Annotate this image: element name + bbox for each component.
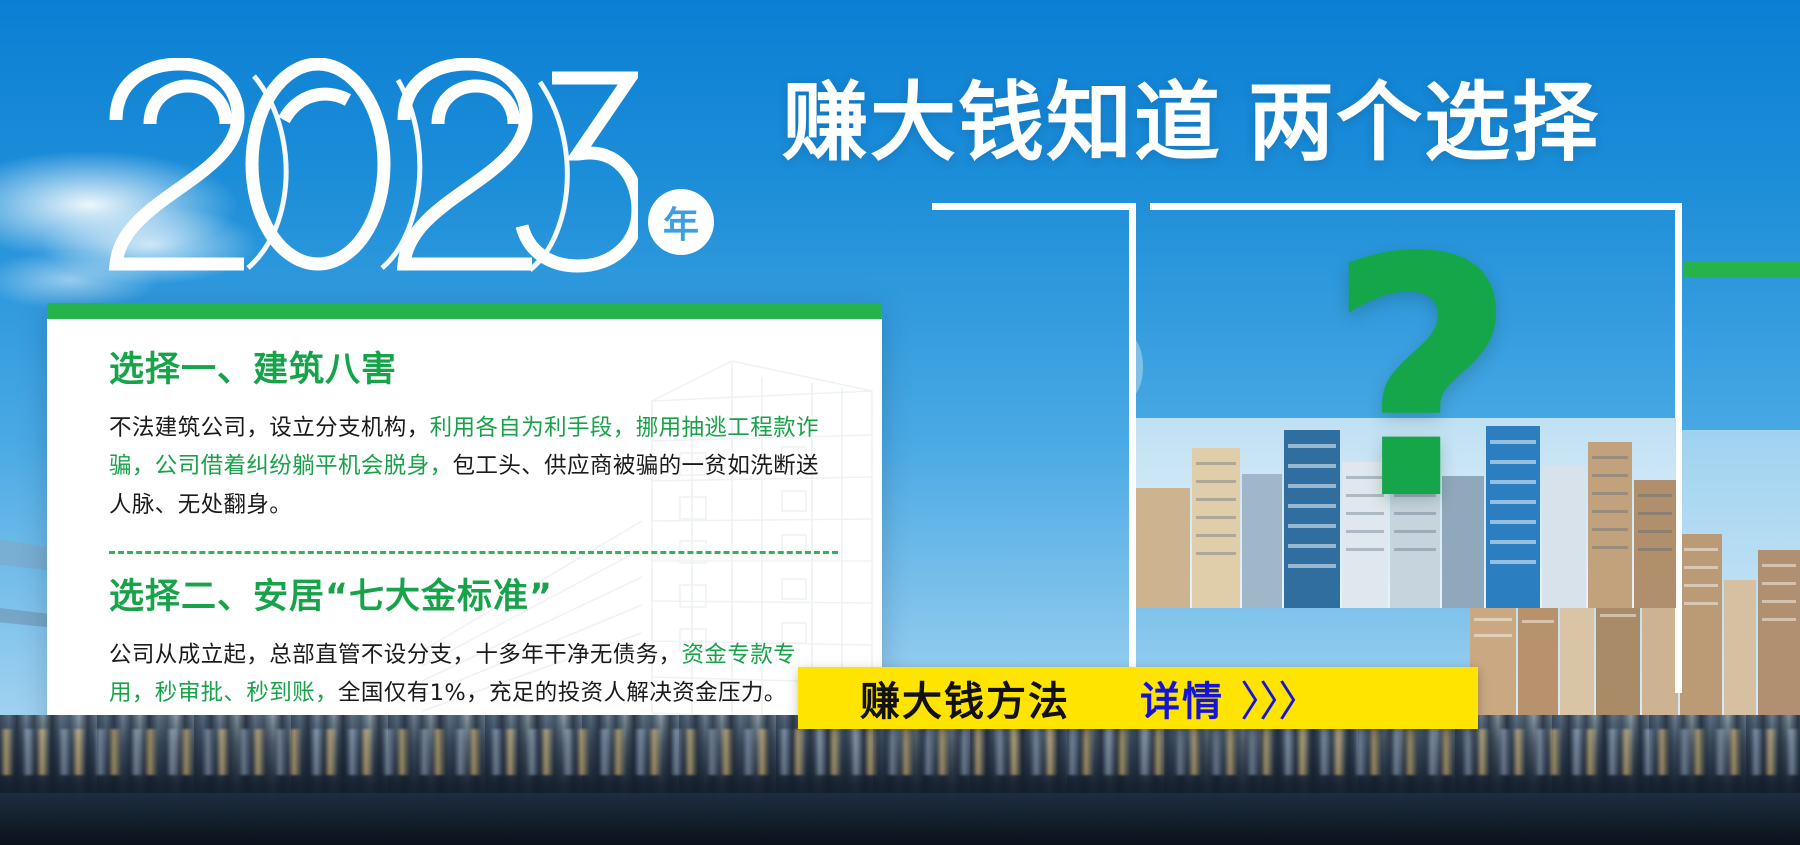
headline-rule-left [932,203,1129,210]
headline-part-1: 赚大钱知道 [782,73,1222,173]
section-2-body-part-3: 全国仅有1%，充足的投资人解决资金压力。 [338,680,787,706]
panel-frame-left [1129,203,1136,693]
year-suffix-badge: 年 [648,189,714,255]
section-2-body: 公司从成立起，总部直管不设分支，十多年干净无债务，资金专款专用，秒审批、秒到账，… [109,636,838,713]
year-2023-glyphs [108,58,638,273]
section-1-body: 不法建筑公司，设立分支机构，利用各自为利手段，挪用抽逃工程款诈骗，公司借着纠纷躺… [109,409,838,525]
section-1-title: 选择一、建筑八害 [109,349,838,393]
bottom-cityscape-strip [0,715,1800,845]
banner-stage: 年 赚大钱知道两个选择 TWO CHOICES [0,0,1800,845]
page-title: 赚大钱知道两个选择 [782,78,1600,168]
cta-bar[interactable]: 赚大钱方法 详情 〉〉〉 [798,667,1478,729]
section-divider [109,551,838,554]
card-section-2: 选择二、安居“七大金标准” 公司从成立起，总部直管不设分支，十多年干净无债务，资… [109,576,838,713]
ghost-text-two: TWO [1136,310,1155,428]
section-1-body-part-1: 不法建筑公司，设立分支机构， [109,415,430,441]
card-top-accent-bar [47,303,882,319]
card-section-1: 选择一、建筑八害 不法建筑公司，设立分支机构，利用各自为利手段，挪用抽逃工程款诈… [109,349,838,525]
year-number [108,58,638,273]
right-green-accent-bar [1684,262,1800,277]
cta-detail-link[interactable]: 详情 [1140,669,1224,727]
choices-panel: TWO CHOICES [1136,210,1676,690]
chevron-right-icon: 〉〉〉 [1240,668,1318,729]
card-content: 选择一、建筑八害 不法建筑公司，设立分支机构，利用各自为利手段，挪用抽逃工程款诈… [109,349,838,713]
headline-part-2: 两个选择 [1248,73,1600,173]
section-2-title: 选择二、安居“七大金标准” [109,576,838,620]
year-block: 年 [108,58,714,273]
panel-frame-right [1675,203,1682,693]
section-2-body-part-1: 公司从成立起，总部直管不设分支，十多年干净无债务， [109,642,682,668]
cta-main-label: 赚大钱方法 [860,669,1070,727]
question-mark-icon: ? [1326,215,1517,545]
headline-rule-right [1150,203,1682,210]
